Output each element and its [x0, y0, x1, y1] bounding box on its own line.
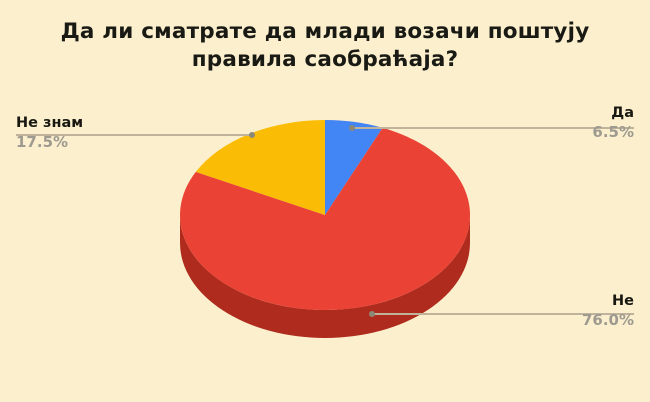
callout-ne-znam-label: Не знам [16, 114, 166, 132]
callout-ne-label: Не [484, 292, 634, 310]
callout-da-label: Да [484, 104, 634, 122]
leader-dot-ne [369, 311, 375, 317]
callout-ne-znam-percent: 17.5% [16, 132, 166, 152]
callout-da: Да 6.5% [484, 104, 634, 142]
callout-ne-znam: Не знам 17.5% [16, 114, 166, 152]
pie-chart-graphic [0, 0, 650, 402]
leader-dot-ne-znam [249, 132, 255, 138]
callout-da-percent: 6.5% [484, 122, 634, 142]
callout-ne: Не 76.0% [484, 292, 634, 330]
pie-slices [180, 120, 470, 310]
callout-ne-percent: 76.0% [484, 310, 634, 330]
leader-dot-da [349, 125, 355, 131]
pie-chart-figure: Да ли сматрате да млади возачи поштују п… [0, 0, 650, 402]
